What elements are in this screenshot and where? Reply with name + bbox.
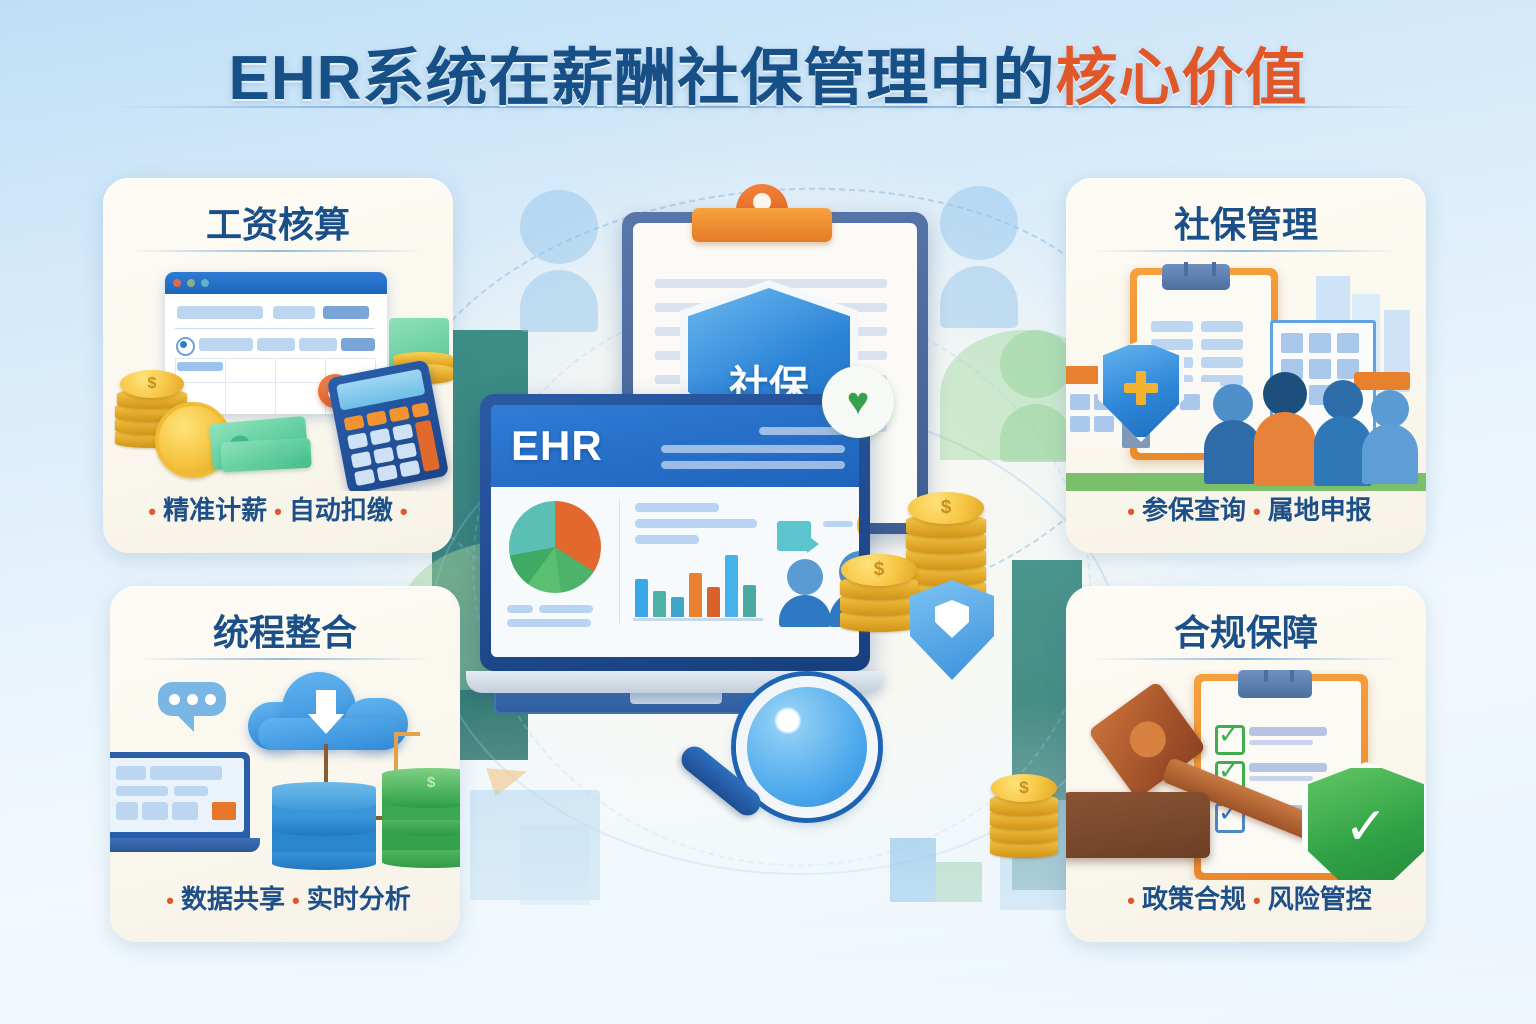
card-social-insurance-title: 社保管理: [1066, 196, 1426, 248]
pie-chart: [509, 501, 601, 593]
card-payroll-subtitle: •精准计薪•自动扣缴•: [103, 490, 453, 527]
card-compliance-sub-1: 政策合规: [1142, 884, 1246, 914]
database-green-icon: $: [382, 768, 460, 870]
download-arrow-icon: [316, 690, 336, 716]
banknote-icon-2: [220, 438, 311, 473]
magnifier-icon: [736, 676, 878, 818]
hero-screen-header: EHR: [491, 405, 859, 487]
bullet-dot: •: [1253, 888, 1261, 913]
card-compliance-divider: [1092, 658, 1400, 660]
card-compliance-subtitle: •政策合规•风险管控: [1066, 879, 1426, 916]
card-payroll-sub-2: 自动扣缴: [289, 495, 393, 525]
cloud-download-icon: [248, 672, 408, 752]
hero-laptop-screen: EHR: [491, 405, 859, 657]
card-system-integration-subtitle: •数据共享•实时分析: [110, 879, 460, 916]
bullet-dot: •: [148, 499, 156, 524]
card-payroll-divider: [129, 250, 427, 252]
card-system-integration-divider: [136, 658, 434, 660]
card-payroll-sub-1: 精准计薪: [163, 495, 267, 525]
person-2: [1254, 372, 1316, 486]
card-system-integration-sub-2: 实时分析: [307, 884, 411, 914]
bullet-dot: •: [1253, 499, 1261, 524]
card-payroll-illustration: ✓ $: [103, 262, 453, 491]
database-blue-icon: [272, 788, 376, 864]
page-title-prefix: EHR系统在薪酬社保管理中的: [229, 44, 1056, 113]
card-social-insurance-illustration: [1066, 262, 1426, 491]
browser-titlebar: [165, 272, 387, 294]
card-system-integration-title: 统程整合: [110, 604, 460, 656]
card-social-insurance-sub-1: 参保查询: [1142, 495, 1246, 525]
hero-dashboard: [491, 487, 859, 657]
hero-coin-stack-bottom: $: [990, 770, 1058, 860]
page-title-accent: 核心价值: [1055, 44, 1307, 113]
infographic-canvas: EHR系统在薪酬社保管理中的核心价值 工资核算: [0, 0, 1536, 1024]
hero-small-shield-icon: [910, 580, 994, 680]
hero-laptop-icon: EHR: [480, 394, 870, 693]
bar-chart: [633, 549, 763, 625]
page-title-block: EHR系统在薪酬社保管理中的核心价值: [0, 46, 1536, 111]
card-social-insurance-subtitle: •参保查询•属地申报: [1066, 490, 1426, 527]
hero-clipboard-clip-icon: [692, 208, 832, 242]
bullet-dot: •: [1127, 499, 1135, 524]
card-compliance-title: 合规保障: [1066, 604, 1426, 656]
hero-coin-stack-short: $: [840, 552, 918, 632]
card-social-insurance[interactable]: 社保管理: [1066, 178, 1426, 553]
green-shield-check-icon: ✓: [1302, 762, 1426, 880]
card-system-integration[interactable]: 统程整合: [110, 586, 460, 942]
card-compliance[interactable]: 合规保障 ✓ ✓ ✓: [1066, 586, 1426, 942]
green-heart-icon: ♥: [822, 366, 894, 438]
bullet-dot: •: [292, 888, 300, 913]
bullet-dot: •: [274, 499, 282, 524]
card-social-insurance-sub-2: 属地申报: [1268, 495, 1372, 525]
card-payroll[interactable]: 工资核算: [103, 178, 453, 553]
chat-bubble-icon: [158, 682, 226, 716]
bullet-dot: •: [1127, 888, 1135, 913]
hero-illustration: 社保 ♥ EHR: [470, 180, 1070, 940]
card-system-integration-illustration: $: [110, 670, 460, 880]
person-4: [1362, 390, 1418, 484]
card-compliance-illustration: ✓ ✓ ✓: [1066, 670, 1426, 880]
card-social-insurance-divider: [1092, 250, 1400, 252]
page-title: EHR系统在薪酬社保管理中的核心价值: [0, 46, 1536, 111]
card-system-integration-sub-1: 数据共享: [181, 884, 285, 914]
bullet-dot: •: [166, 888, 174, 913]
card-compliance-sub-2: 风险管控: [1268, 884, 1372, 914]
bullet-dot: •: [400, 499, 408, 524]
card-payroll-title: 工资核算: [103, 196, 453, 248]
laptop-icon: [110, 752, 250, 852]
hero-screen-label: EHR: [511, 422, 603, 470]
gavel-block-icon: [1066, 792, 1210, 858]
